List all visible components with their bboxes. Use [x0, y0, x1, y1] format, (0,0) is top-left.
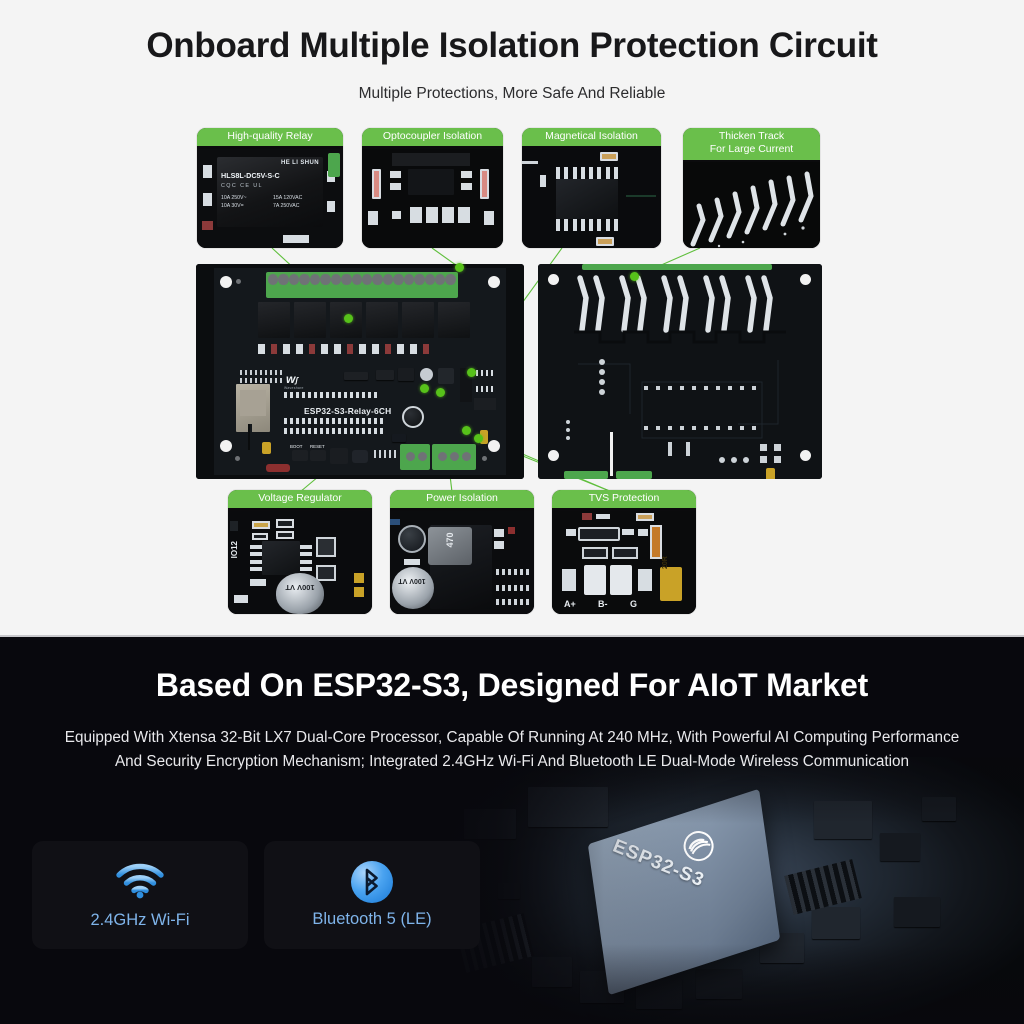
- callout-dot-voltage-regulator: [420, 384, 429, 393]
- callout-dot-tvs-2: [462, 426, 471, 435]
- body-line-1: Equipped With Xtensa 32-Bit LX7 Dual-Cor…: [8, 726, 1016, 750]
- voltage-regulator-photo: IO12: [228, 511, 372, 614]
- badge-wifi[interactable]: 2.4GHz Wi-Fi: [32, 841, 248, 949]
- bluetooth-icon: [351, 861, 393, 903]
- feature-badges: 2.4GHz Wi-Fi Bluetooth 5 (LE): [32, 841, 480, 949]
- badge-bluetooth-label: Bluetooth 5 (LE): [312, 910, 431, 929]
- wifi-icon: [114, 861, 166, 904]
- regulator-io-silk: IO12: [230, 541, 239, 558]
- relay-model: HLS8L-DC5V-S-C: [221, 171, 319, 180]
- relay-photo: HE LI SHUN HLS8L-DC5V-S-C CQC CE UL 10A …: [197, 149, 343, 248]
- waveshare-wordmark: Waveshare: [284, 386, 304, 390]
- tvs-terminal-b: B-: [598, 599, 608, 609]
- relay-brand: HE LI SHUN: [221, 160, 319, 169]
- esp32-s3-section: ESP32-S3 Based On ESP32-S3, Designed For…: [0, 637, 1024, 1024]
- callout-dot-relay: [344, 314, 353, 323]
- power-cap-silk: 100V VT: [394, 577, 430, 584]
- magnetic-isolation-photo: [522, 149, 661, 248]
- callout-label-optocoupler: Optocoupler Isolation: [362, 128, 503, 146]
- callout-card-tvs: TVS Protection 20R A+: [552, 490, 696, 614]
- callout-dot-magnetical: [467, 368, 476, 377]
- relay-rating-left: 10A 250V~ 10A 30V=: [221, 195, 247, 211]
- relay-rating-right: 15A 120VAC 7A 250VAC: [273, 195, 302, 211]
- power-inductor-silk: 470: [445, 524, 455, 556]
- relay-board-back-photo: [538, 264, 822, 479]
- callout-card-thicken-track: Thicken Track For Large Current: [683, 128, 820, 248]
- callout-dot-tvs: [474, 434, 483, 443]
- isolation-protection-section: Onboard Multiple Isolation Protection Ci…: [0, 0, 1024, 637]
- section-body-bottom: Equipped With Xtensa 32-Bit LX7 Dual-Cor…: [8, 726, 1016, 773]
- callout-card-magnetical: Magnetical Isolation: [522, 128, 661, 248]
- callout-label-thicken-track: Thicken Track For Large Current: [683, 128, 820, 160]
- callout-dot-optocoupler: [455, 263, 464, 272]
- badge-wifi-label: 2.4GHz Wi-Fi: [91, 911, 190, 930]
- tvs-terminal-g: G: [630, 599, 637, 609]
- body-line-2: And Security Encryption Mechanism; Integ…: [8, 750, 1016, 774]
- photo-vignette: [424, 757, 1024, 1024]
- callout-card-relay: High-quality Relay HE LI SHUN HLS8L-DC5V…: [197, 128, 343, 248]
- reset-button-label: RESET: [310, 444, 325, 449]
- esp32-chip-photo: ESP32-S3: [424, 757, 1024, 1024]
- callout-card-power-isolation: Power Isolation 470 100V VT: [390, 490, 534, 614]
- tvs-terminal-a: A+: [564, 599, 576, 609]
- relay-certification-marks: CQC CE UL: [221, 183, 319, 189]
- thicken-track-photo: [683, 162, 820, 248]
- callout-dot-power-isolation: [436, 388, 445, 397]
- callout-label-power-isolation: Power Isolation: [390, 490, 534, 508]
- callout-dot-thicken-track: [630, 272, 639, 281]
- product-feature-page: Onboard Multiple Isolation Protection Ci…: [0, 0, 1024, 1024]
- callout-label-magnetical: Magnetical Isolation: [522, 128, 661, 146]
- waveshare-logo: wʃ: [286, 372, 298, 386]
- section-title-bottom: Based On ESP32-S3, Designed For AIoT Mar…: [0, 667, 1024, 704]
- callout-card-optocoupler: Optocoupler Isolation: [362, 128, 503, 248]
- power-isolation-photo: 470 100V VT: [390, 511, 534, 614]
- board-silkscreen-name: ESP32-S3-Relay-6CH: [304, 406, 391, 416]
- callout-label-voltage-regulator: Voltage Regulator: [228, 490, 372, 508]
- callout-label-tvs: TVS Protection: [552, 490, 696, 508]
- regulator-cap-silk: 100V VT: [280, 583, 320, 592]
- boot-button-label: BOOT: [290, 444, 302, 449]
- tvs-resistor-silk: 20R: [662, 556, 669, 569]
- badge-bluetooth[interactable]: Bluetooth 5 (LE): [264, 841, 480, 949]
- callout-label-relay: High-quality Relay: [197, 128, 343, 146]
- optocoupler-photo: [362, 149, 503, 248]
- callout-card-voltage-regulator: Voltage Regulator IO12: [228, 490, 372, 614]
- tvs-protection-photo: 20R A+ B- G: [552, 511, 696, 614]
